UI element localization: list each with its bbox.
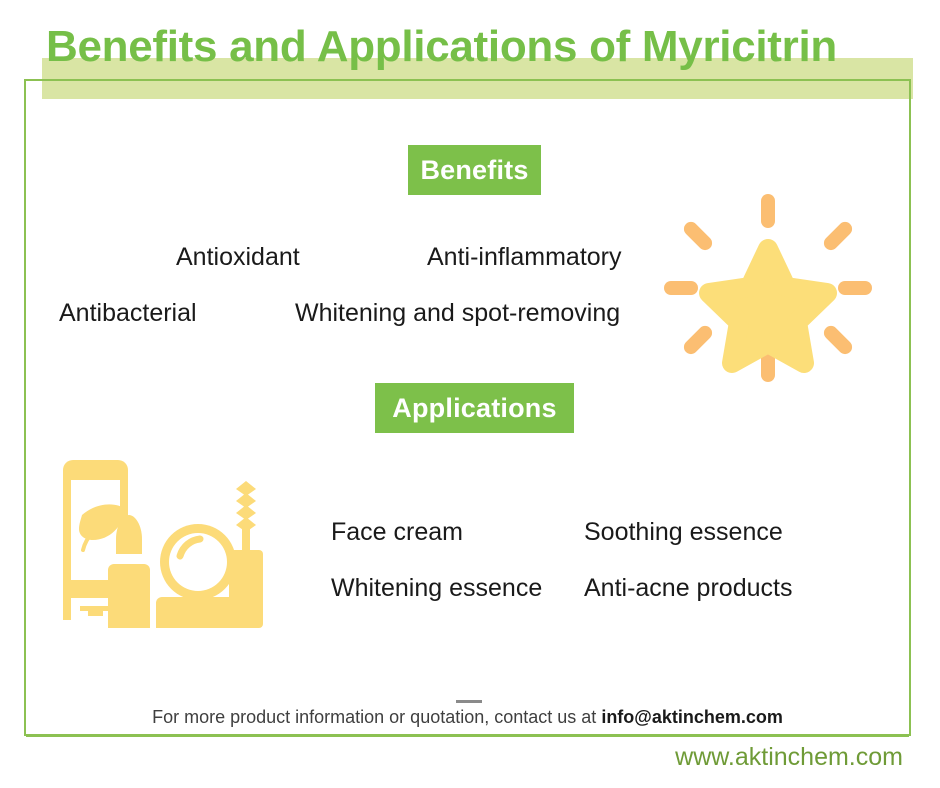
footer-divider xyxy=(26,734,909,737)
benefit-item-antioxidant: Antioxidant xyxy=(176,242,300,272)
page-title: Benefits and Applications of Myricitrin xyxy=(46,20,926,74)
footer-contact-prefix: For more product information or quotatio… xyxy=(152,707,601,727)
benefit-item-whitening-spot-removing: Whitening and spot-removing xyxy=(295,298,620,328)
section-badge-benefits: Benefits xyxy=(408,145,541,195)
footer-website-url[interactable]: www.aktinchem.com xyxy=(0,741,903,773)
benefit-item-anti-inflammatory: Anti-inflammatory xyxy=(427,242,622,272)
quotation-overline-mark xyxy=(456,700,482,703)
footer-email[interactable]: info@aktinchem.com xyxy=(601,707,783,727)
section-badge-applications: Applications xyxy=(375,383,574,433)
benefit-item-antibacterial: Antibacterial xyxy=(59,298,197,328)
application-item-anti-acne-products: Anti-acne products xyxy=(584,573,792,603)
application-item-face-cream: Face cream xyxy=(331,517,463,547)
application-item-soothing-essence: Soothing essence xyxy=(584,517,783,547)
shining-star-icon xyxy=(662,192,874,384)
footer-contact-line: For more product information or quotatio… xyxy=(26,705,909,729)
infographic-slide: Benefits and Applications of Myricitrin … xyxy=(0,0,940,788)
application-item-whitening-essence: Whitening essence xyxy=(331,573,542,603)
cosmetics-set-icon xyxy=(52,458,292,634)
